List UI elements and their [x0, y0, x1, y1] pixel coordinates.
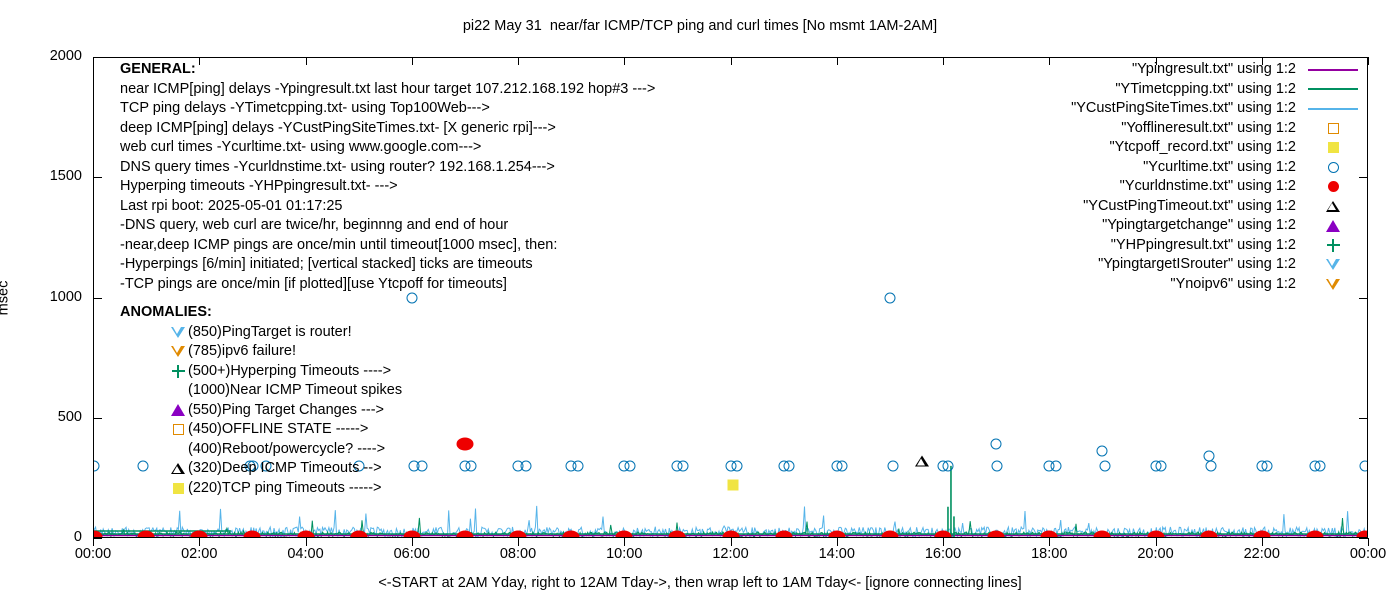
y-tick-label: 1000 [20, 289, 82, 305]
legend-symbol [1304, 177, 1362, 197]
legend-symbol [1304, 80, 1362, 100]
filled-square-icon [173, 483, 184, 494]
filled-circle-icon [1328, 181, 1339, 192]
anomaly-row: (785)ipv6 failure! [120, 342, 402, 362]
anomaly-symbol [168, 401, 188, 421]
general-line: -near,deep ICMP pings are once/min until… [120, 236, 655, 256]
legend-label: "Ypingresult.txt" using 1:2 [1132, 60, 1296, 80]
general-line: -DNS query, web curl are twice/hr, begin… [120, 216, 655, 236]
anomaly-symbol [168, 420, 188, 440]
anomaly-label: (1000)Near ICMP Timeout spikes [188, 381, 402, 401]
x-tick-label: 04:00 [287, 546, 323, 562]
x-tick-label: 00:00 [1350, 546, 1386, 562]
line-purple-icon [1308, 69, 1358, 71]
legend-label: "Ytcpoff_record.txt" using 1:2 [1109, 138, 1296, 158]
y-axis-tick-labels: 0500100015002000 [10, 57, 82, 538]
legend-row: "YHPpingresult.txt" using 1:2 [1071, 236, 1362, 256]
anomaly-symbol [168, 459, 188, 479]
general-line: -Hyperpings [6/min] initiated; [vertical… [120, 255, 655, 275]
legend-symbol [1304, 99, 1362, 119]
legend-row: "YpingtargetISrouter" using 1:2 [1071, 255, 1362, 275]
open-triangle-down-orange-icon [171, 346, 185, 357]
general-lines: near ICMP[ping] delays -Ypingresult.txt … [120, 80, 655, 295]
x-tick-mark [943, 538, 944, 546]
legend-symbol [1304, 119, 1362, 139]
anomaly-row: (320)Deep ICMP Timeouts --> [120, 459, 402, 479]
legend-label: "Ycurldnstime.txt" using 1:2 [1120, 177, 1296, 197]
x-tick-label: 10:00 [606, 546, 642, 562]
legend-label: "YpingtargetISrouter" using 1:2 [1098, 255, 1296, 275]
legend-symbol [1304, 158, 1362, 178]
y-tick-label: 0 [20, 529, 82, 545]
anomaly-row: (400)Reboot/powercycle? ----> [120, 440, 402, 460]
legend-label: "YCustPingTimeout.txt" using 1:2 [1083, 197, 1296, 217]
legend-label: "YHPpingresult.txt" using 1:2 [1111, 236, 1296, 256]
x-tick-mark [93, 57, 94, 65]
y-tick-mark [93, 538, 102, 539]
chart-title: pi22 May 31 near/far ICMP/TCP ping and c… [0, 18, 1400, 34]
legend-row: "YCustPingTimeout.txt" using 1:2 [1071, 197, 1362, 217]
anomaly-label: (550)Ping Target Changes ---> [188, 401, 402, 421]
y-tick-mark [1359, 538, 1368, 539]
anomaly-row: (1000)Near ICMP Timeout spikes [120, 381, 402, 401]
x-tick-label: 12:00 [712, 546, 748, 562]
anomaly-row: (450)OFFLINE STATE -----> [120, 420, 402, 440]
legend-symbol [1304, 60, 1362, 80]
anomaly-symbol [168, 362, 188, 382]
legend-symbol [1304, 216, 1362, 236]
x-tick-mark [1049, 538, 1050, 546]
x-tick-label: 20:00 [1137, 546, 1173, 562]
open-square-icon [1328, 123, 1339, 134]
x-tick-mark [199, 538, 200, 546]
y-tick-label: 500 [20, 409, 82, 425]
anomaly-label: (850)PingTarget is router! [188, 323, 402, 343]
legend-label: "Ypingtargetchange" using 1:2 [1102, 216, 1296, 236]
anomaly-label: (220)TCP ping Timeouts -----> [188, 479, 402, 499]
legend-row: "Ypingtargetchange" using 1:2 [1071, 216, 1362, 236]
x-tick-label: 22:00 [1244, 546, 1280, 562]
legend-row: "Yofflineresult.txt" using 1:2 [1071, 119, 1362, 139]
x-tick-mark [412, 538, 413, 546]
x-axis-caption: <-START at 2AM Yday, right to 12AM Tday-… [0, 575, 1400, 591]
open-triangle-up-icon [1326, 201, 1340, 212]
legend-symbol [1304, 255, 1362, 275]
anomaly-symbol [168, 479, 188, 499]
y-tick-label: 2000 [20, 48, 82, 64]
line-lightblue-icon [1308, 108, 1358, 110]
x-tick-label: 14:00 [819, 546, 855, 562]
legend-row: "YCustPingSiteTimes.txt" using 1:2 [1071, 99, 1362, 119]
x-axis-tick-labels: 00:0002:0004:0006:0008:0010:0012:0014:00… [0, 546, 1400, 568]
anomaly-row: (850)PingTarget is router! [120, 323, 402, 343]
x-tick-mark [1049, 57, 1050, 65]
legend-row: "Ycurltime.txt" using 1:2 [1071, 158, 1362, 178]
anomaly-row: (550)Ping Target Changes ---> [120, 401, 402, 421]
x-tick-label: 06:00 [394, 546, 430, 562]
anomaly-row: (500+)Hyperping Timeouts ----> [120, 362, 402, 382]
legend-label: "Ycurltime.txt" using 1:2 [1143, 158, 1296, 178]
open-triangle-down-blue-icon [171, 327, 185, 338]
general-line: -TCP pings are once/min [if plotted][use… [120, 275, 655, 295]
y-tick-label: 1500 [20, 168, 82, 184]
x-tick-label: 00:00 [75, 546, 111, 562]
x-tick-mark [1156, 538, 1157, 546]
x-tick-label: 18:00 [1031, 546, 1067, 562]
legend-symbol [1304, 138, 1362, 158]
anomaly-symbol [168, 323, 188, 343]
general-line: web curl times -Ycurltime.txt- using www… [120, 138, 655, 158]
x-tick-mark [731, 57, 732, 65]
plus-icon [1327, 239, 1340, 252]
general-line: TCP ping delays -YTimetcpping.txt- using… [120, 99, 655, 119]
anomaly-label: (320)Deep ICMP Timeouts --> [188, 459, 402, 479]
general-annotation-block: GENERAL: near ICMP[ping] delays -Ypingre… [120, 60, 655, 294]
x-tick-label: 16:00 [925, 546, 961, 562]
legend-row: "Ycurldnstime.txt" using 1:2 [1071, 177, 1362, 197]
anomaly-symbol [168, 342, 188, 362]
legend-row: "Ytcpoff_record.txt" using 1:2 [1071, 138, 1362, 158]
chart-root: pi22 May 31 near/far ICMP/TCP ping and c… [0, 0, 1400, 600]
anomaly-label: (450)OFFLINE STATE -----> [188, 420, 402, 440]
x-tick-label: 08:00 [500, 546, 536, 562]
x-tick-label: 02:00 [181, 546, 217, 562]
open-triangle-up-icon [171, 463, 185, 474]
anomaly-label: (400)Reboot/powercycle? ----> [188, 440, 402, 460]
x-tick-mark [837, 57, 838, 65]
open-square-icon [173, 424, 184, 435]
anomaly-label: (785)ipv6 failure! [188, 342, 402, 362]
x-tick-mark [1368, 57, 1369, 65]
line-green-icon [1308, 88, 1358, 90]
chart-legend: "Ypingresult.txt" using 1:2"YTimetcpping… [1071, 60, 1362, 294]
x-tick-mark [837, 538, 838, 546]
anomaly-symbol [168, 440, 188, 460]
filled-square-icon [1328, 142, 1339, 153]
filled-triangle-up-icon [171, 404, 185, 416]
open-circle-icon [1328, 162, 1339, 173]
legend-label: "YCustPingSiteTimes.txt" using 1:2 [1071, 99, 1296, 119]
legend-row: "Ynoipv6" using 1:2 [1071, 275, 1362, 295]
anomaly-symbol [168, 381, 188, 401]
legend-symbol [1304, 197, 1362, 217]
open-triangle-down-orange-icon [1326, 279, 1340, 290]
general-line: near ICMP[ping] delays -Ypingresult.txt … [120, 80, 655, 100]
legend-symbol [1304, 236, 1362, 256]
general-header: GENERAL: [120, 60, 655, 80]
filled-triangle-up-icon [1326, 220, 1340, 232]
x-tick-mark [1262, 538, 1263, 546]
legend-symbol [1304, 275, 1362, 295]
legend-label: "YTimetcpping.txt" using 1:2 [1115, 80, 1296, 100]
x-tick-mark [731, 538, 732, 546]
legend-row: "YTimetcpping.txt" using 1:2 [1071, 80, 1362, 100]
general-line: Hyperping timeouts -YHPpingresult.txt- -… [120, 177, 655, 197]
x-tick-mark [518, 538, 519, 546]
general-line: DNS query times -Ycurldnstime.txt- using… [120, 158, 655, 178]
general-line: deep ICMP[ping] delays -YCustPingSiteTim… [120, 119, 655, 139]
x-tick-mark [306, 538, 307, 546]
legend-label: "Ynoipv6" using 1:2 [1170, 275, 1296, 295]
x-tick-mark [93, 538, 94, 546]
anomaly-row: (220)TCP ping Timeouts -----> [120, 479, 402, 499]
x-tick-mark [943, 57, 944, 65]
legend-label: "Yofflineresult.txt" using 1:2 [1121, 119, 1296, 139]
legend-row: "Ypingresult.txt" using 1:2 [1071, 60, 1362, 80]
x-tick-mark [1368, 538, 1369, 546]
open-triangle-down-blue-icon [1326, 259, 1340, 270]
anomalies-rows: (850)PingTarget is router!(785)ipv6 fail… [120, 323, 402, 499]
general-line: Last rpi boot: 2025-05-01 01:17:25 [120, 197, 655, 217]
anomalies-header: ANOMALIES: [120, 303, 402, 323]
plus-icon [172, 365, 185, 378]
x-tick-mark [624, 538, 625, 546]
anomalies-annotation-block: ANOMALIES: (850)PingTarget is router!(78… [120, 303, 402, 498]
anomaly-label: (500+)Hyperping Timeouts ----> [188, 362, 402, 382]
